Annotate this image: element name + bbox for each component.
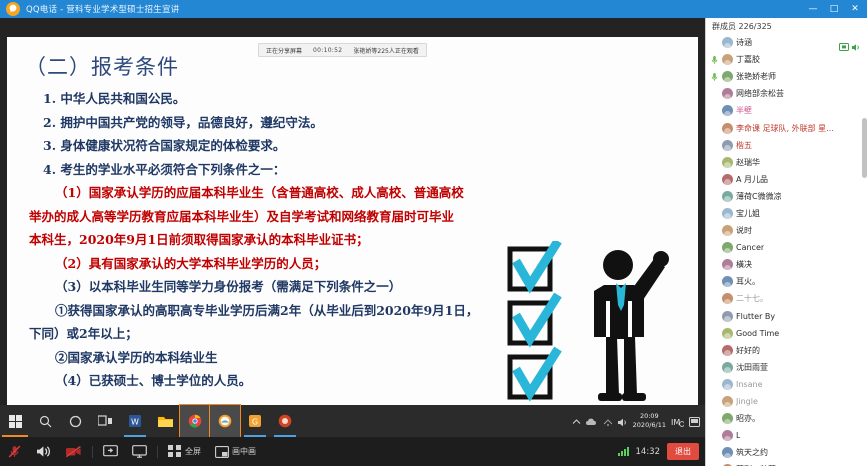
member-name: 楷五 bbox=[736, 140, 752, 151]
onedrive-icon[interactable] bbox=[586, 412, 598, 431]
system-tray: 20:09 2020/6/11 IM bbox=[572, 405, 703, 437]
share-state-label: 正在分享屏幕 bbox=[266, 46, 302, 55]
signal-strength-icon bbox=[618, 447, 629, 456]
divider-2 bbox=[157, 446, 158, 458]
avatar bbox=[722, 208, 733, 219]
mic-slot-empty bbox=[710, 123, 719, 134]
avatar bbox=[722, 293, 733, 304]
mic-active-icon bbox=[710, 54, 719, 65]
search-icon bbox=[39, 415, 52, 428]
member-list-item[interactable]: 赵瑞华 bbox=[706, 154, 867, 171]
member-name: 网络部余松芸 bbox=[736, 88, 784, 99]
svg-text:IM: IM bbox=[671, 418, 680, 427]
member-name: Jingle bbox=[736, 397, 758, 406]
mic-active-icon bbox=[710, 71, 719, 82]
task-view-button[interactable] bbox=[90, 405, 120, 437]
member-name: 说时 bbox=[736, 225, 752, 236]
avatar bbox=[722, 242, 733, 253]
mic-slot-empty bbox=[710, 191, 719, 202]
member-name: 耳火。 bbox=[736, 276, 760, 287]
slide-line: 举办的成人高等学历教育应届本科毕业生）及自学考试和网络教育届时可毕业 bbox=[7, 205, 698, 229]
chrome-icon bbox=[188, 414, 202, 428]
close-button[interactable]: ✕ bbox=[845, 0, 865, 18]
qq-icon: G bbox=[248, 414, 262, 428]
divider bbox=[92, 446, 93, 458]
member-name: 好好的 bbox=[736, 345, 760, 356]
mic-slot-empty bbox=[710, 293, 719, 304]
circle-icon bbox=[69, 415, 82, 428]
mic-slot-empty bbox=[710, 413, 719, 424]
avatar bbox=[722, 54, 733, 65]
qq-phone-icon bbox=[5, 1, 21, 17]
share-status-bar: 正在分享屏幕 00:10:52 张艳娇等225人正在观看 bbox=[258, 43, 427, 57]
member-name: 诗涵 bbox=[736, 37, 752, 48]
mic-slot-empty bbox=[710, 157, 719, 168]
taskbar-word[interactable]: W bbox=[120, 405, 150, 437]
camera-off-icon bbox=[65, 444, 82, 459]
action-center-icon[interactable] bbox=[689, 412, 700, 431]
member-list-item[interactable]: 诗涵 bbox=[706, 34, 867, 51]
avatar bbox=[722, 276, 733, 287]
show-hidden-icon[interactable] bbox=[572, 412, 581, 431]
mic-slot-empty bbox=[710, 311, 719, 322]
task-view-icon bbox=[98, 415, 112, 427]
avatar bbox=[722, 225, 733, 236]
member-list-item[interactable]: Jingle bbox=[706, 393, 867, 410]
member-list-item[interactable]: 二十七。 bbox=[706, 290, 867, 307]
powerpoint-icon bbox=[278, 414, 292, 428]
share-viewers-label: 张艳娇等225人正在观看 bbox=[353, 46, 418, 55]
avatar bbox=[722, 362, 733, 373]
member-name: Cancer bbox=[736, 243, 764, 252]
speaker-icon bbox=[36, 444, 51, 459]
slide-line: 2. 拥护中国共产党的领导，品德良好，遵纪守法。 bbox=[7, 111, 698, 135]
clock-date: 2020/6/11 bbox=[633, 421, 666, 430]
member-list-item[interactable]: Good Time bbox=[706, 325, 867, 342]
pip-icon bbox=[215, 446, 229, 458]
member-list-item[interactable]: 好好的 bbox=[706, 342, 867, 359]
svg-text:W: W bbox=[131, 418, 139, 427]
member-list-item[interactable]: Flutter By bbox=[706, 308, 867, 325]
window-title: QQ电话 - 营科专业学术型硕士招生宣讲 bbox=[26, 3, 179, 15]
member-name: Flutter By bbox=[736, 312, 775, 321]
avatar bbox=[722, 430, 733, 441]
member-name: 丁嘉胶 bbox=[736, 54, 760, 65]
mic-slot-empty bbox=[710, 379, 719, 390]
member-list-item[interactable]: 耳火。 bbox=[706, 273, 867, 290]
member-list-scrollbar[interactable] bbox=[862, 118, 867, 178]
member-name: 筑天之约 bbox=[736, 447, 768, 458]
member-list-item[interactable]: A 月儿品 bbox=[706, 171, 867, 188]
monitor-icon bbox=[132, 445, 147, 458]
member-name: 沈田雨萱 bbox=[736, 362, 768, 373]
slide-line: 3. 身体健康状况符合国家规定的体检要求。 bbox=[7, 134, 698, 158]
quit-call-button[interactable]: 退出 bbox=[667, 443, 699, 460]
maximize-button[interactable]: □ bbox=[824, 0, 844, 18]
member-list-item[interactable]: 橫决 bbox=[706, 256, 867, 273]
mic-slot-empty bbox=[710, 328, 719, 339]
member-name: 二十七。 bbox=[736, 293, 768, 304]
member-list-item[interactable]: 昭亦。 bbox=[706, 410, 867, 427]
member-list-item[interactable]: L bbox=[706, 427, 867, 444]
mic-off-icon bbox=[7, 444, 22, 459]
member-name: 薄荷C微微凉 bbox=[736, 191, 782, 202]
member-list-item[interactable]: 蓝列一种蓝 bbox=[706, 461, 867, 466]
folder-icon bbox=[158, 415, 173, 428]
search-button[interactable] bbox=[30, 405, 60, 437]
avatar bbox=[722, 396, 733, 407]
call-elapsed: 14:32 bbox=[636, 447, 661, 457]
taskbar-powerpoint[interactable] bbox=[270, 405, 300, 437]
member-name: Insane bbox=[736, 380, 763, 389]
mic-slot-empty bbox=[710, 208, 719, 219]
avatar bbox=[722, 447, 733, 458]
window-title-bar: QQ电话 - 营科专业学术型硕士招生宣讲 — □ ✕ bbox=[0, 0, 867, 18]
avatar bbox=[722, 71, 733, 82]
member-name: 赵瑞华 bbox=[736, 157, 760, 168]
avatar bbox=[722, 105, 733, 116]
member-list-item[interactable]: 说时 bbox=[706, 222, 867, 239]
checklist-person-illustration bbox=[506, 241, 676, 416]
avatar bbox=[722, 191, 733, 202]
window-controls: — □ ✕ bbox=[803, 0, 865, 18]
avatar bbox=[722, 328, 733, 339]
member-list-item[interactable]: 楷五 bbox=[706, 137, 867, 154]
fullscreen-label: 全屏 bbox=[185, 446, 201, 457]
mic-slot-empty bbox=[710, 174, 719, 185]
mic-slot-empty bbox=[710, 276, 719, 287]
taskbar-explorer[interactable] bbox=[150, 405, 180, 437]
mic-slot-empty bbox=[710, 88, 719, 99]
member-list-item[interactable]: 沈田雨萱 bbox=[706, 359, 867, 376]
avatar bbox=[722, 413, 733, 424]
mic-slot-empty bbox=[710, 362, 719, 373]
screen-share-icon bbox=[103, 445, 118, 458]
member-list-item[interactable]: 李命课 足球队, 外联部 星... bbox=[706, 119, 867, 136]
avatar bbox=[722, 123, 733, 134]
member-list-item[interactable]: Cancer bbox=[706, 239, 867, 256]
member-list-item[interactable]: 筑天之约 bbox=[706, 444, 867, 461]
taskbar-chrome[interactable] bbox=[180, 405, 210, 437]
member-list-item[interactable]: 丁嘉胶 bbox=[706, 51, 867, 68]
mic-slot-empty bbox=[710, 447, 719, 458]
slide-title: （二）报考条件 bbox=[25, 51, 179, 81]
sound-icon[interactable] bbox=[618, 412, 628, 431]
member-list-item[interactable]: 半壁 bbox=[706, 102, 867, 119]
member-name: 李命课 足球队, 外联部 星... bbox=[736, 123, 834, 134]
shared-screen-stage: 正在分享屏幕 00:10:52 张艳娇等225人正在观看 （二）报考条件 1. … bbox=[0, 18, 705, 437]
windows-taskbar: W bbox=[0, 405, 705, 437]
group-member-panel: 群成员 226/325 诗涵丁嘉胶张艳娇老师网络部余松芸半壁李命课 足球队, 外… bbox=[705, 18, 867, 466]
svg-text:G: G bbox=[252, 418, 258, 427]
mic-slot-empty bbox=[710, 259, 719, 270]
share-elapsed: 00:10:52 bbox=[313, 47, 342, 54]
avatar bbox=[722, 88, 733, 99]
microphone-muted-button[interactable] bbox=[0, 437, 29, 466]
qq-call-window: QQ电话 - 营科专业学术型硕士招生宣讲 — □ ✕ 正在分享屏幕 00:10:… bbox=[0, 0, 867, 466]
avatar bbox=[722, 345, 733, 356]
mic-slot-empty bbox=[710, 105, 719, 116]
avatar bbox=[722, 174, 733, 185]
pip-label: 画中画 bbox=[232, 446, 256, 457]
member-name: A 月儿品 bbox=[736, 174, 768, 185]
fullscreen-icon bbox=[168, 445, 182, 458]
member-list-item[interactable]: 薄荷C微微凉 bbox=[706, 188, 867, 205]
member-name: 张艳娇老师 bbox=[736, 71, 776, 82]
avatar bbox=[722, 259, 733, 270]
speaker-button[interactable] bbox=[29, 437, 58, 466]
camera-muted-button[interactable] bbox=[58, 437, 89, 466]
start-button[interactable] bbox=[0, 405, 30, 437]
fullscreen-button[interactable]: 全屏 bbox=[161, 437, 208, 466]
member-name: 宝儿姐 bbox=[736, 208, 760, 219]
member-list[interactable]: 诗涵丁嘉胶张艳娇老师网络部余松芸半壁李命课 足球队, 外联部 星...楷五赵瑞华… bbox=[706, 34, 867, 466]
mic-slot-empty bbox=[710, 396, 719, 407]
member-list-item[interactable]: 宝儿姐 bbox=[706, 205, 867, 222]
word-icon: W bbox=[128, 414, 142, 428]
mic-slot-empty bbox=[710, 430, 719, 441]
avatar bbox=[722, 379, 733, 390]
avatar bbox=[722, 311, 733, 322]
slide-line: 1. 中华人民共和国公民。 bbox=[7, 87, 698, 111]
share-screen-button[interactable] bbox=[96, 437, 125, 466]
taskbar-browser[interactable] bbox=[210, 405, 240, 437]
picture-in-picture-button[interactable]: 画中画 bbox=[208, 437, 263, 466]
avatar bbox=[722, 157, 733, 168]
mic-slot-empty bbox=[710, 242, 719, 253]
member-name: Good Time bbox=[736, 329, 779, 338]
mic-slot-empty bbox=[710, 345, 719, 356]
member-name: 半壁 bbox=[736, 105, 752, 116]
network-icon[interactable] bbox=[603, 412, 613, 431]
member-list-item[interactable]: 张艳娇老师 bbox=[706, 68, 867, 85]
member-name: 橫决 bbox=[736, 259, 752, 270]
member-list-item[interactable]: Insane bbox=[706, 376, 867, 393]
slide-line: （1）国家承认学历的应届本科毕业生（含普通高校、成人高校、普通高校 bbox=[7, 181, 698, 205]
presentation-slide: （二）报考条件 1. 中华人民共和国公民。2. 拥护中国共产党的领导，品德良好，… bbox=[7, 37, 698, 422]
cortana-button[interactable] bbox=[60, 405, 90, 437]
ime-icon[interactable]: IM bbox=[671, 412, 684, 431]
slide-line: 4. 考生的学业水平必须符合下列条件之一： bbox=[7, 158, 698, 182]
taskbar-clock[interactable]: 20:09 2020/6/11 bbox=[633, 412, 666, 430]
windows-logo-icon bbox=[9, 415, 22, 428]
mic-slot-empty bbox=[710, 140, 719, 151]
call-status-group: 14:32 退出 bbox=[618, 437, 700, 466]
member-panel-header: 群成员 226/325 bbox=[706, 18, 867, 34]
mic-slot-empty bbox=[710, 37, 719, 48]
call-control-bar: 全屏 画中画 14:32 退出 bbox=[0, 437, 705, 466]
mic-slot-empty bbox=[710, 225, 719, 236]
present-button[interactable] bbox=[125, 437, 154, 466]
browser-icon bbox=[218, 414, 232, 428]
minimize-button[interactable]: — bbox=[803, 0, 823, 18]
member-name: 昭亦。 bbox=[736, 413, 760, 424]
member-name: L bbox=[736, 431, 740, 440]
member-list-item[interactable]: 网络部余松芸 bbox=[706, 85, 867, 102]
clock-time: 20:09 bbox=[633, 412, 666, 421]
avatar bbox=[722, 140, 733, 151]
taskbar-qq[interactable]: G bbox=[240, 405, 270, 437]
avatar bbox=[722, 37, 733, 48]
